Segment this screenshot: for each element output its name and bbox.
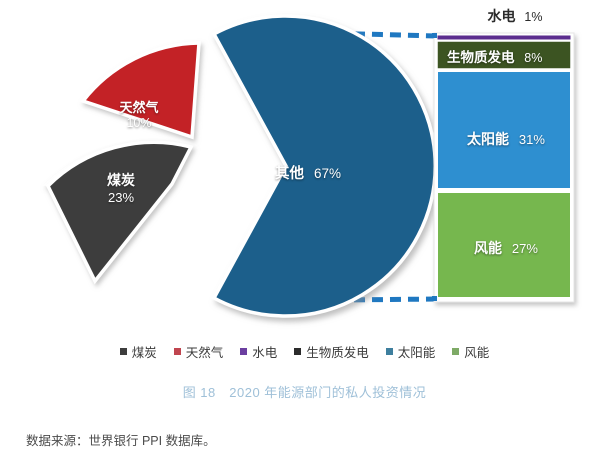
figure-caption: 图 18 2020 年能源部门的私人投资情况 bbox=[0, 382, 609, 401]
pie-slice-gas[interactable] bbox=[83, 43, 199, 137]
bar-label-hydro: 水电 1% bbox=[455, 6, 575, 26]
legend-swatch-hydro bbox=[240, 348, 247, 355]
chart-legend: 煤炭 天然气 水电 生物质发电 太阳能 风能 bbox=[0, 342, 609, 361]
bar-segment-wind[interactable] bbox=[437, 192, 571, 298]
legend-label-biomass: 生物质发电 bbox=[306, 342, 369, 361]
legend-item-hydro[interactable]: 水电 bbox=[240, 342, 277, 361]
bar-segment-biomass[interactable] bbox=[437, 41, 571, 69]
legend-label-hydro: 水电 bbox=[252, 342, 277, 361]
legend-swatch-wind bbox=[452, 348, 459, 355]
legend-item-solar[interactable]: 太阳能 bbox=[386, 342, 436, 361]
bar-segment-hydro[interactable] bbox=[437, 35, 571, 40]
legend-swatch-biomass bbox=[294, 348, 301, 355]
legend-swatch-solar bbox=[386, 348, 393, 355]
legend-label-solar: 太阳能 bbox=[398, 342, 436, 361]
pie-chart bbox=[47, 16, 435, 316]
legend-item-wind[interactable]: 风能 bbox=[452, 342, 489, 361]
connector-anchor-bottom bbox=[432, 296, 437, 301]
legend-label-natural-gas: 天然气 bbox=[186, 342, 224, 361]
bar-segment-solar[interactable] bbox=[437, 71, 571, 189]
stacked-bar bbox=[434, 33, 574, 302]
bar-label-hydro-pct: 1% bbox=[524, 10, 542, 24]
bar-label-hydro-name: 水电 bbox=[488, 8, 516, 24]
legend-item-coal[interactable]: 煤炭 bbox=[120, 342, 157, 361]
pie-slice-coal-body[interactable] bbox=[48, 142, 191, 281]
legend-label-coal: 煤炭 bbox=[132, 342, 157, 361]
connector-anchor-top bbox=[432, 33, 437, 38]
pie-slice-other[interactable] bbox=[214, 16, 435, 316]
chart-figure: 天然气 10% 煤炭 23% 其他 67% 水电 1% 生物质发电 8% 太阳能… bbox=[0, 0, 609, 330]
figure-source-note: 数据来源：世界银行 PPI 数据库。 bbox=[26, 430, 216, 449]
chart-canvas bbox=[0, 0, 609, 330]
legend-item-biomass[interactable]: 生物质发电 bbox=[294, 342, 369, 361]
legend-label-wind: 风能 bbox=[464, 342, 489, 361]
legend-item-natural-gas[interactable]: 天然气 bbox=[174, 342, 224, 361]
legend-swatch-natural-gas bbox=[174, 348, 181, 355]
legend-swatch-coal bbox=[120, 348, 127, 355]
